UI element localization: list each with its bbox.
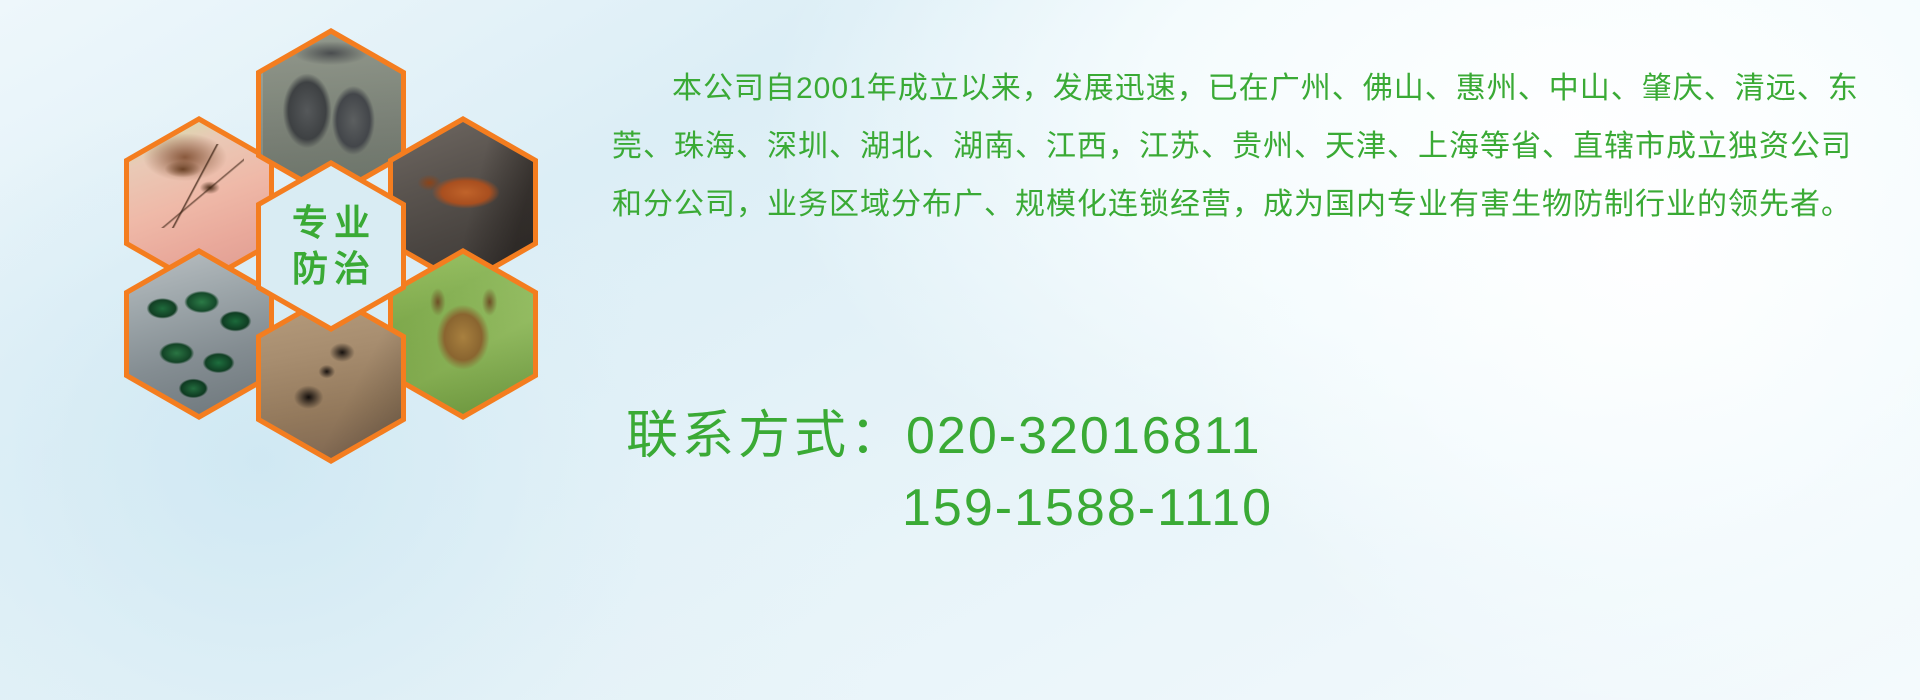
hex-photo-frame [393, 254, 533, 414]
stinkbug-photo [393, 254, 533, 414]
contact-label: 联系方式： [626, 407, 906, 465]
contact-phone-secondary[interactable]: 159-1588-1110 [902, 479, 1273, 537]
hex-cell-fly[interactable] [124, 248, 274, 420]
promo-banner: 专业 防治 本公司自2001年成立以来，发展迅速，已在广州、佛山、惠州、中山、肇… [0, 0, 1920, 700]
contact-phone-primary[interactable]: 020-32016811 [906, 407, 1262, 465]
logo-text-line1: 专业 [286, 204, 376, 242]
contact-secondary-line[interactable]: 159-1588-1110 [612, 472, 1902, 544]
honeycomb-collage: 专业 防治 [90, 8, 590, 568]
about-section: 本公司自2001年成立以来，发展迅速，已在广州、佛山、惠州、中山、肇庆、清远、东… [612, 30, 1882, 264]
hex-logo-frame: 专业 防治 [261, 166, 401, 326]
contact-primary-line[interactable]: 联系方式：020-32016811 [612, 400, 1902, 472]
about-paragraph: 本公司自2001年成立以来，发展迅速，已在广州、佛山、惠州、中山、肇庆、清远、东… [612, 60, 1882, 234]
hex-cell-stinkbug[interactable] [388, 248, 538, 420]
fly-photo [129, 254, 269, 414]
logo-text-line2: 防治 [286, 250, 376, 288]
contact-section: 联系方式：020-32016811 159-1588-1110 [612, 400, 1902, 544]
logo-text: 专业 防治 [261, 166, 401, 326]
hex-cell-logo: 专业 防治 [256, 160, 406, 332]
hex-photo-frame [129, 254, 269, 414]
